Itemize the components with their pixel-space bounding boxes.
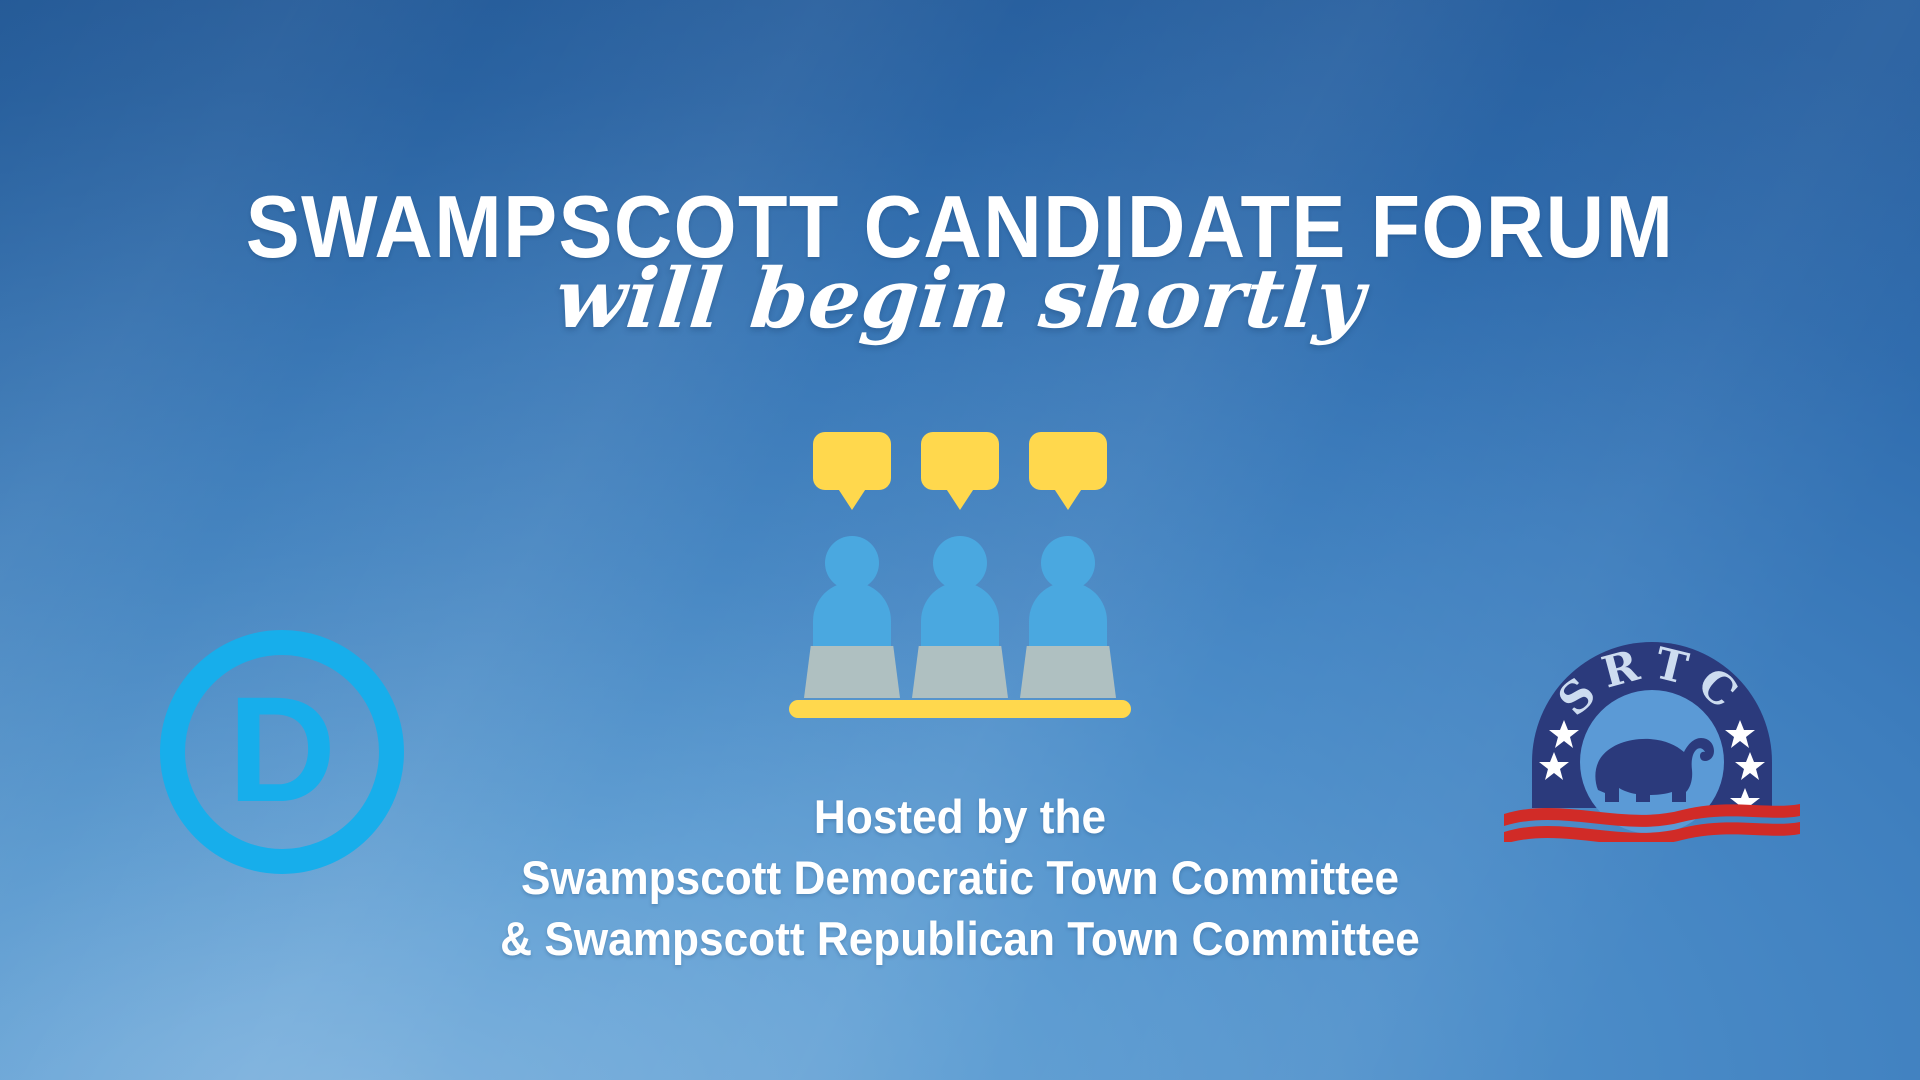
desk-panel [804, 646, 900, 698]
person-icon [1029, 536, 1107, 662]
desk-panel [912, 646, 1008, 698]
host-line-2: Swampscott Democratic Town Committee [58, 847, 1863, 908]
speech-bubble-icon [813, 432, 891, 490]
speech-bubble-icon [1029, 432, 1107, 490]
subtitle-script: will begin shortly [0, 258, 1920, 340]
host-line-3: & Swampscott Republican Town Committee [58, 908, 1863, 969]
host-line-1: Hosted by the [58, 786, 1863, 847]
desk-base-bar [789, 700, 1131, 718]
desk-panel-row [750, 646, 1170, 698]
person-icon [813, 536, 891, 662]
person-icon [921, 536, 999, 662]
panel-illustration [750, 432, 1170, 752]
slide-canvas: SWAMPSCOTT CANDIDATE FORUM will begin sh… [0, 0, 1920, 1080]
desk-panel [1020, 646, 1116, 698]
host-credit-text: Hosted by the Swampscott Democratic Town… [0, 786, 1920, 969]
speech-bubble-row [750, 432, 1170, 490]
speech-bubble-icon [921, 432, 999, 490]
speaker-figure-row [750, 536, 1170, 662]
